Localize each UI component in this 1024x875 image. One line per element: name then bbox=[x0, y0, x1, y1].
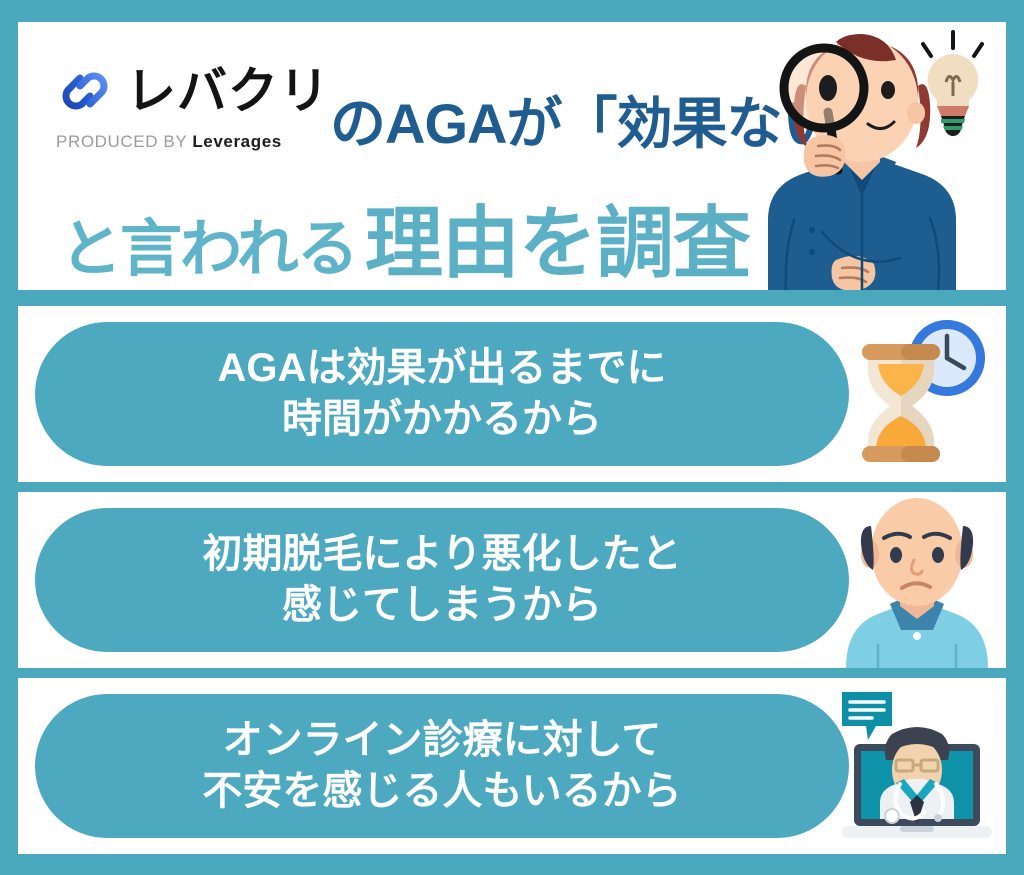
logo-brand-name: Leverages bbox=[192, 132, 282, 151]
logo-row: レバクリ bbox=[54, 60, 334, 122]
reason-3-line-2: 不安を感じる人もいるから bbox=[202, 766, 681, 817]
header-panel: レバクリ PRODUCED BY Leverages のAGAが「効果ない」 と… bbox=[18, 22, 1006, 290]
reason-card-1: AGAは効果が出るまでに 時間がかかるから bbox=[18, 306, 1006, 482]
infographic-root: レバクリ PRODUCED BY Leverages のAGAが「効果ない」 と… bbox=[0, 0, 1024, 875]
reason-card-2: 初期脱毛により悪化したと 感じてしまうから bbox=[18, 492, 1006, 668]
reason-pill-1: AGAは効果が出るまでに 時間がかかるから bbox=[35, 322, 849, 466]
headline-line-2: と言われる 理由を調査 bbox=[60, 204, 750, 282]
person-with-magnifying-glass-and-lightbulb bbox=[716, 22, 1006, 290]
headline-line-2-big: 理由を調査 bbox=[365, 204, 750, 282]
reason-pill-2: 初期脱毛により悪化したと 感じてしまうから bbox=[35, 508, 849, 652]
logo-wordmark: レバクリ bbox=[126, 66, 330, 116]
chain-link-logo-icon bbox=[54, 60, 116, 122]
brand-logo: レバクリ PRODUCED BY Leverages bbox=[54, 60, 334, 152]
reason-card-3: オンライン診療に対して 不安を感じる人もいるから bbox=[18, 678, 1006, 854]
reason-3-line-1: オンライン診療に対して bbox=[223, 715, 662, 766]
reason-1-line-2: 時間がかかるから bbox=[282, 394, 602, 445]
online-doctor-laptop-icon bbox=[832, 678, 1002, 854]
logo-produced-by: PRODUCED BY bbox=[56, 132, 187, 151]
logo-subtitle: PRODUCED BY Leverages bbox=[56, 132, 334, 152]
reason-2-line-1: 初期脱毛により悪化したと bbox=[202, 529, 681, 580]
hourglass-and-clock-icon bbox=[832, 306, 1002, 482]
reason-pill-3: オンライン診療に対して 不安を感じる人もいるから bbox=[35, 694, 849, 838]
headline-line-2-small: と言われる bbox=[60, 219, 357, 281]
reason-1-line-1: AGAは効果が出るまでに bbox=[218, 343, 667, 394]
reason-2-line-2: 感じてしまうから bbox=[282, 580, 602, 631]
worried-balding-man-icon bbox=[832, 492, 1002, 668]
